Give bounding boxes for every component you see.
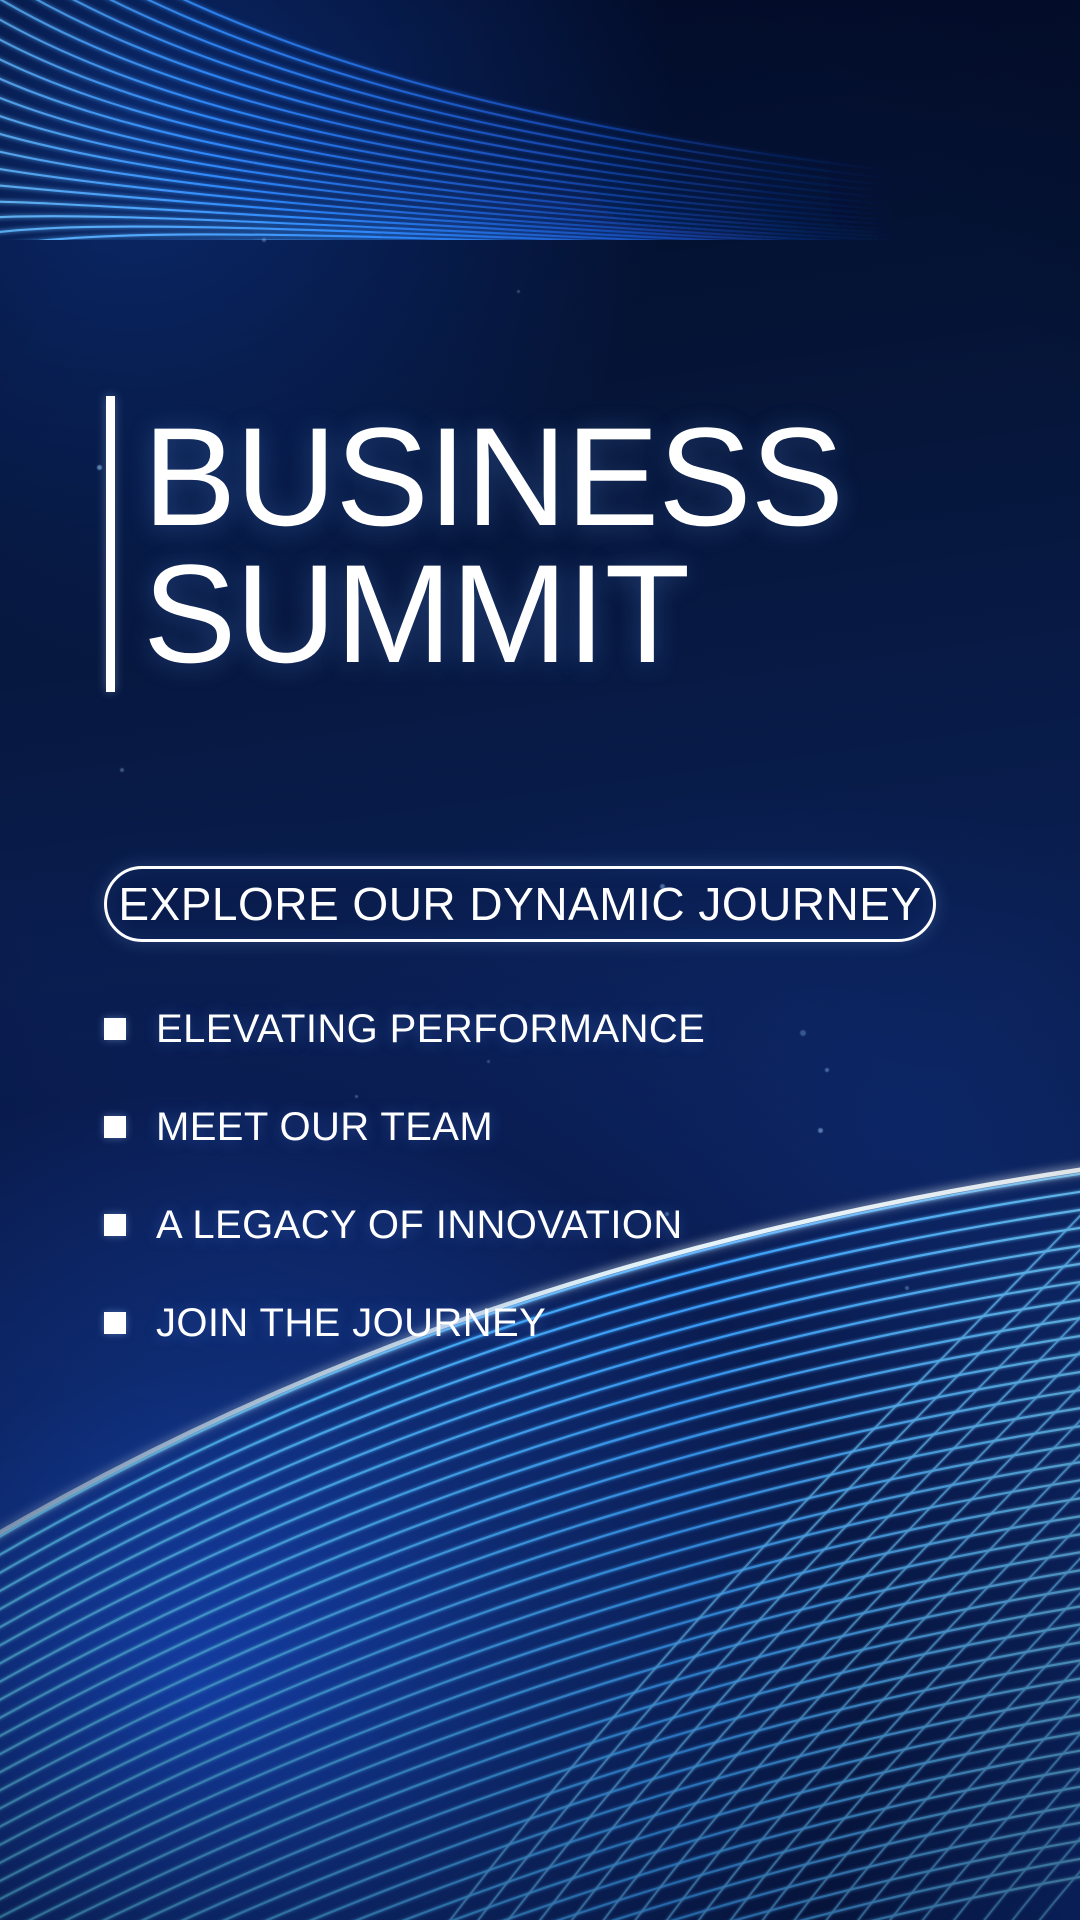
square-bullet-icon: [104, 1312, 126, 1334]
square-bullet-icon: [104, 1214, 126, 1236]
title-line-1: BUSINESS: [143, 408, 843, 545]
explore-journey-button-label: EXPLORE OUR DYNAMIC JOURNEY: [118, 877, 921, 931]
title-text-block: BUSINESS SUMMIT: [143, 396, 843, 692]
title-accent-rule: [106, 396, 115, 692]
poster-content: BUSINESS SUMMIT EXPLORE OUR DYNAMIC JOUR…: [0, 0, 1080, 1920]
square-bullet-icon: [104, 1018, 126, 1040]
explore-journey-button[interactable]: EXPLORE OUR DYNAMIC JOURNEY: [104, 866, 936, 942]
agenda-list: ELEVATING PERFORMANCE MEET OUR TEAM A LE…: [104, 990, 904, 1382]
list-item-label: JOIN THE JOURNEY: [156, 1301, 546, 1346]
list-item-label: A LEGACY OF INNOVATION: [156, 1203, 683, 1248]
list-item[interactable]: MEET OUR TEAM: [104, 1088, 904, 1166]
poster-canvas: BUSINESS SUMMIT EXPLORE OUR DYNAMIC JOUR…: [0, 0, 1080, 1920]
list-item[interactable]: JOIN THE JOURNEY: [104, 1284, 904, 1362]
list-item-label: ELEVATING PERFORMANCE: [156, 1007, 705, 1052]
title-line-2: SUMMIT: [143, 545, 843, 682]
list-item[interactable]: ELEVATING PERFORMANCE: [104, 990, 904, 1068]
list-item[interactable]: A LEGACY OF INNOVATION: [104, 1186, 904, 1264]
square-bullet-icon: [104, 1116, 126, 1138]
list-item-label: MEET OUR TEAM: [156, 1105, 493, 1150]
poster-title: BUSINESS SUMMIT: [106, 396, 843, 692]
